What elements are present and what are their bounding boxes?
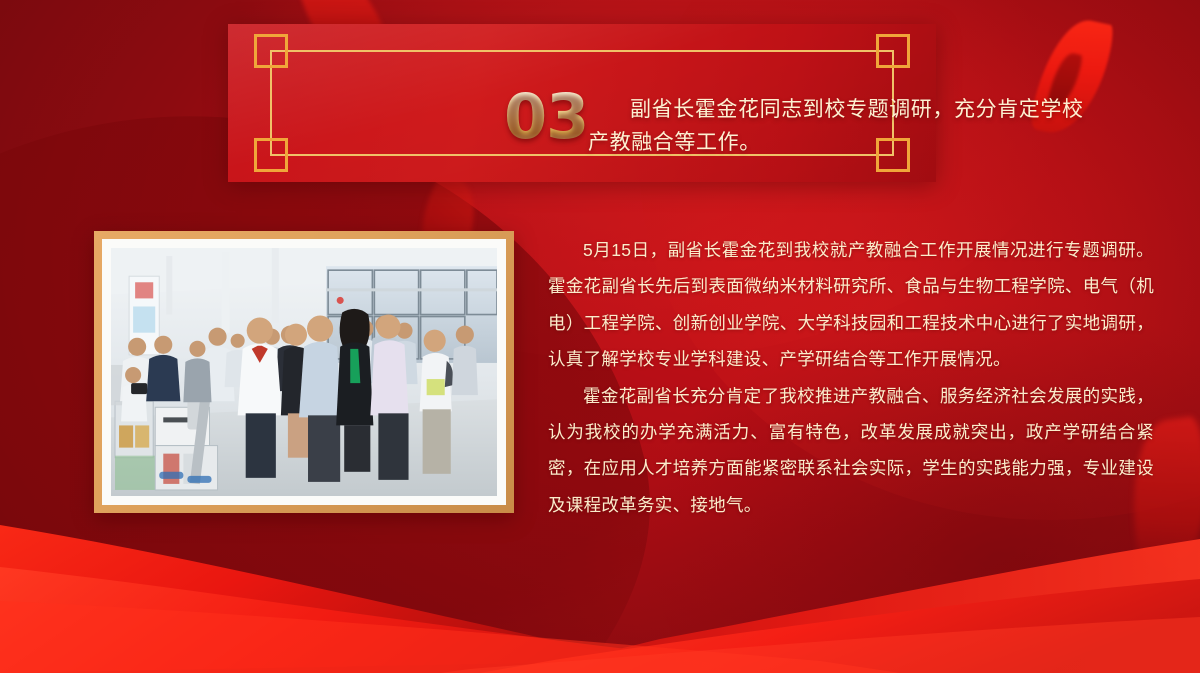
visit-photo (111, 248, 497, 496)
photo-mat (102, 239, 506, 505)
section-title: 副省长霍金花同志到校专题调研，充分肯定学校产教融合等工作。 (588, 94, 1090, 159)
corner-ornament-top-left-icon (254, 34, 288, 68)
article-body: 5月15日，副省长霍金花到我校就产教融合工作开展情况进行专题调研。霍金花副省长先… (548, 232, 1154, 523)
paragraph-2: 霍金花副省长充分肯定了我校推进产教融合、服务经济社会发展的实践，认为我校的办学充… (548, 378, 1154, 524)
corner-ornament-top-right-icon (876, 34, 910, 68)
section-header-banner: 03 副省长霍金花同志到校专题调研，充分肯定学校产教融合等工作。 (228, 24, 936, 182)
presentation-slide: 03 副省长霍金花同志到校专题调研，充分肯定学校产教融合等工作。 (0, 0, 1200, 673)
section-number: 03 (504, 86, 588, 148)
corner-ornament-bottom-left-icon (254, 138, 288, 172)
photo-frame (94, 231, 514, 513)
paragraph-1: 5月15日，副省长霍金花到我校就产教融合工作开展情况进行专题调研。霍金花副省长先… (548, 232, 1154, 378)
